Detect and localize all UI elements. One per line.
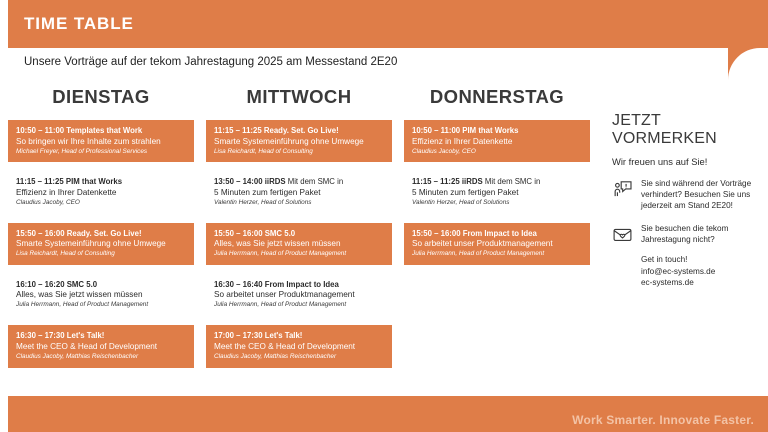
sidebar-row-visit-booth-text: Sie sind während der Vorträge verhindert… (641, 178, 760, 212)
session-time: 11:15 – 11:25 (412, 177, 460, 186)
session-title: 16:10 – 16:20 SMC 5.0 (16, 280, 186, 290)
header-rounded-corner (728, 48, 760, 82)
day-column: MITTWOCH11:15 – 11:25 Ready. Set. Go Liv… (206, 86, 392, 377)
session-title: 15:50 – 16:00 Ready. Set. Go Live! (16, 229, 186, 239)
poster-page: TIME TABLE Unsere Vorträge auf der tekom… (0, 0, 768, 432)
session-description: So bringen wir Ihre Inhalte zum strahlen (16, 137, 186, 147)
session-card-highlighted[interactable]: 10:50 – 11:00 PIM that WorksEffizienz in… (404, 120, 590, 162)
session-description: Alles, was Sie jetzt wissen müssen (16, 290, 186, 300)
sidebar-contact: Get in touch! info@ec-systems.de ec-syst… (641, 254, 760, 288)
session-time: 17:00 – 17:30 (214, 331, 263, 340)
session-description: Alles, was Sie jetzt wissen müssen (214, 239, 384, 249)
session-time: 15:50 – 16:00 (412, 229, 461, 238)
session-card[interactable]: 16:30 – 16:40 From Impact to IdeaSo arbe… (206, 274, 392, 316)
sidebar-row-not-attending-text: Sie besuchen die tekom Jahrestagung nich… (641, 223, 760, 246)
session-speaker: Claudius Jacoby, CEO (412, 148, 582, 156)
session-card-highlighted[interactable]: 17:00 – 17:30 Let's Talk!Meet the CEO & … (206, 325, 392, 367)
schedule-columns: DIENSTAG10:50 – 11:00 Templates that Wor… (8, 86, 598, 377)
session-time: 15:50 – 16:00 (214, 229, 263, 238)
session-description: 5 Minuten zum fertigen Paket (412, 188, 582, 198)
session-card[interactable]: 16:10 – 16:20 SMC 5.0Alles, was Sie jetz… (8, 274, 194, 316)
session-speaker: Lisa Reichardt, Head of Consulting (214, 148, 384, 156)
session-title: 17:00 – 17:30 Let's Talk! (214, 331, 384, 341)
session-description: Effizienz in Ihrer Datenkette (16, 188, 186, 198)
session-speaker: Valentin Herzer, Head of Solutions (214, 199, 384, 207)
session-title: 10:50 – 11:00 PIM that Works (412, 126, 582, 136)
session-speaker: Lisa Reichardt, Head of Consulting (16, 250, 186, 258)
sidebar-title: JETZT VORMERKEN (612, 112, 760, 148)
session-time: 13:50 – 14:00 (214, 177, 263, 186)
day-column-title: DONNERSTAG (404, 86, 590, 108)
session-title-main: PIM that Works (462, 126, 518, 135)
page-title: TIME TABLE (24, 14, 134, 34)
session-card-highlighted[interactable]: 10:50 – 11:00 Templates that WorkSo brin… (8, 120, 194, 162)
session-title-main: Let's Talk! (67, 331, 105, 340)
session-title: 15:50 – 16:00 From Impact to Idea (412, 229, 582, 239)
sidebar-row-visit-booth: Sie sind während der Vorträge verhindert… (612, 178, 760, 212)
session-description: Meet the CEO & Head of Development (16, 342, 186, 352)
session-title-main: SMC 5.0 (67, 280, 97, 289)
session-speaker: Claudius Jacoby, Matthias Reischenbacher (16, 353, 186, 361)
sidebar-row-not-attending: Sie besuchen die tekom Jahrestagung nich… (612, 223, 760, 246)
session-title: 13:50 – 14:00 iiRDS Mit dem SMC in (214, 177, 384, 187)
session-card-highlighted[interactable]: 15:50 – 16:00 SMC 5.0Alles, was Sie jetz… (206, 223, 392, 265)
session-card[interactable]: 11:15 – 11:25 PIM that WorksEffizienz in… (8, 171, 194, 213)
session-time: 10:50 – 11:00 (412, 126, 460, 135)
session-time: 16:30 – 16:40 (214, 280, 263, 289)
session-description: Meet the CEO & Head of Development (214, 342, 384, 352)
session-speaker: Valentin Herzer, Head of Solutions (412, 199, 582, 207)
session-description: Smarte Systemeinführung ohne Umwege (16, 239, 186, 249)
session-card-highlighted[interactable]: 11:15 – 11:25 Ready. Set. Go Live!Smarte… (206, 120, 392, 162)
session-description: So arbeitet unser Produktmanagement (412, 239, 582, 249)
envelope-heart-icon (612, 223, 633, 245)
session-title-main: PIM that Works (66, 177, 122, 186)
footer-slogan: Work Smarter. Innovate Faster. (572, 413, 754, 427)
session-description: Effizienz in Ihrer Datenkette (412, 137, 582, 147)
session-time: 16:30 – 17:30 (16, 331, 65, 340)
sidebar-subtitle: Wir freuen uns auf Sie! (612, 156, 760, 167)
session-card[interactable]: 11:15 – 11:25 iiRDS Mit dem SMC in5 Minu… (404, 171, 590, 213)
session-title-main: Templates that Work (66, 126, 142, 135)
session-description: Smarte Systemeinführung ohne Umwege (214, 137, 384, 147)
session-speaker: Michael Freyer, Head of Professional Ser… (16, 148, 186, 156)
session-speaker: Claudius Jacoby, Matthias Reischenbacher (214, 353, 384, 361)
day-column-title: MITTWOCH (206, 86, 392, 108)
session-title: 15:50 – 16:00 SMC 5.0 (214, 229, 384, 239)
day-column: DONNERSTAG10:50 – 11:00 PIM that WorksEf… (404, 86, 590, 377)
session-card-highlighted[interactable]: 15:50 – 16:00 Ready. Set. Go Live!Smarte… (8, 223, 194, 265)
session-title: 16:30 – 17:30 Let's Talk! (16, 331, 186, 341)
session-title: 16:30 – 16:40 From Impact to Idea (214, 280, 384, 290)
session-time: 15:50 – 16:00 (16, 229, 65, 238)
session-time: 16:10 – 16:20 (16, 280, 65, 289)
day-column: DIENSTAG10:50 – 11:00 Templates that Wor… (8, 86, 194, 377)
session-title-main: Ready. Set. Go Live! (67, 229, 142, 238)
session-description: So arbeitet unser Produktmanagement (214, 290, 384, 300)
session-speaker: Julia Herrmann, Head of Product Manageme… (214, 301, 384, 309)
session-time: 11:15 – 11:25 (214, 126, 262, 135)
session-time: 10:50 – 11:00 (16, 126, 64, 135)
session-title-continuation: Mit dem SMC in (286, 177, 344, 186)
session-title: 11:15 – 11:25 iiRDS Mit dem SMC in (412, 177, 582, 187)
session-title: 11:15 – 11:25 PIM that Works (16, 177, 186, 187)
session-description: 5 Minuten zum fertigen Paket (214, 188, 384, 198)
session-title-main: Ready. Set. Go Live! (264, 126, 339, 135)
session-card-highlighted[interactable]: 16:30 – 17:30 Let's Talk!Meet the CEO & … (8, 325, 194, 367)
person-speech-bubble-icon (612, 178, 633, 200)
session-title-continuation: Mit dem SMC in (483, 177, 541, 186)
session-speaker: Julia Herrmann, Head of Product Manageme… (412, 250, 582, 258)
session-title-main: From Impact to Idea (463, 229, 537, 238)
session-title-main: Let's Talk! (265, 331, 303, 340)
session-title-main: SMC 5.0 (265, 229, 295, 238)
sidebar-title-line2: VORMERKEN (612, 130, 760, 148)
session-speaker: Julia Herrmann, Head of Product Manageme… (214, 250, 384, 258)
session-speaker: Claudius Jacoby, CEO (16, 199, 186, 207)
day-column-title: DIENSTAG (8, 86, 194, 108)
session-card[interactable]: 13:50 – 14:00 iiRDS Mit dem SMC in5 Minu… (206, 171, 392, 213)
session-time: 11:15 – 11:25 (16, 177, 64, 186)
page-subtitle: Unsere Vorträge auf der tekom Jahrestagu… (24, 56, 397, 68)
session-card-highlighted[interactable]: 15:50 – 16:00 From Impact to IdeaSo arbe… (404, 223, 590, 265)
sidebar-title-line1: JETZT (612, 112, 760, 130)
contact-website[interactable]: ec-systems.de (641, 277, 760, 288)
contact-cta: Get in touch! (641, 254, 760, 265)
contact-email[interactable]: info@ec-systems.de (641, 266, 760, 277)
session-title-main: From Impact to Idea (265, 280, 339, 289)
session-title-main: iiRDS (265, 177, 286, 186)
session-title-main: iiRDS (462, 177, 483, 186)
sidebar: JETZT VORMERKEN Wir freuen uns auf Sie! … (612, 112, 760, 288)
session-title: 11:15 – 11:25 Ready. Set. Go Live! (214, 126, 384, 136)
session-speaker: Julia Herrmann, Head of Product Manageme… (16, 301, 186, 309)
session-title: 10:50 – 11:00 Templates that Work (16, 126, 186, 136)
